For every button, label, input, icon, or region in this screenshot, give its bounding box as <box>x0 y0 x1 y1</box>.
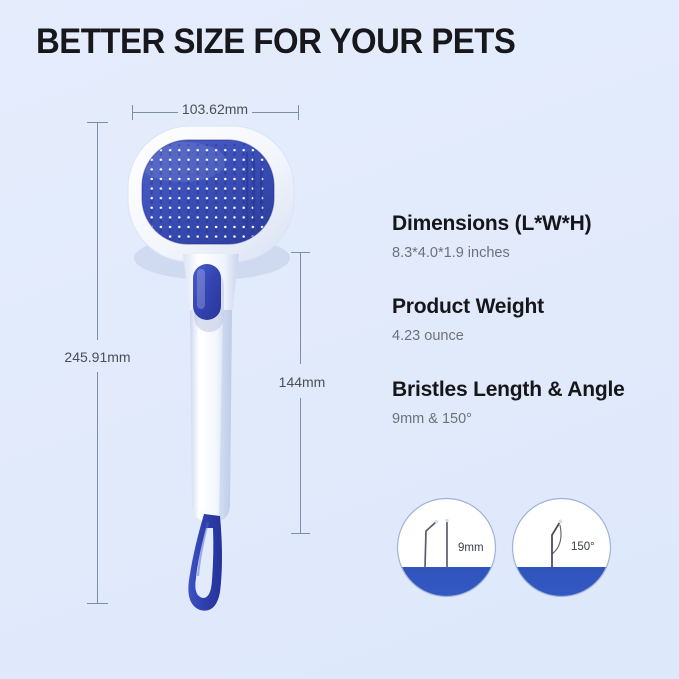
bristle-angle-badge-label: 150° <box>571 541 595 553</box>
spec-weight-value: 4.23 ounce <box>392 328 667 344</box>
page-title: BETTER SIZE FOR YOUR PETS <box>36 22 515 62</box>
width-line-right <box>252 112 298 113</box>
bristle-diagram-badges: 9mm <box>396 497 612 598</box>
spec-weight-title: Product Weight <box>392 295 667 319</box>
spec-bristles: Bristles Length & Angle 9mm & 150° <box>392 378 667 427</box>
spec-list: Dimensions (L*W*H) 8.3*4.0*1.9 inches Pr… <box>392 212 667 461</box>
total-length-line-bottom <box>97 372 98 603</box>
product-image-brush <box>120 118 320 608</box>
total-length-line-top <box>97 122 98 340</box>
width-dimension-label: 103.62mm <box>178 101 252 117</box>
spec-dimensions-title: Dimensions (L*W*H) <box>392 212 667 236</box>
total-length-tick-bottom <box>87 603 108 604</box>
bristle-length-badge-label: 9mm <box>458 542 484 554</box>
bristle-angle-badge: 150° <box>511 497 612 598</box>
infographic-page: BETTER SIZE FOR YOUR PETS 103.62mm 245.9… <box>0 0 679 679</box>
width-line-left <box>132 112 178 113</box>
spec-dimensions: Dimensions (L*W*H) 8.3*4.0*1.9 inches <box>392 212 667 261</box>
spec-bristles-value: 9mm & 150° <box>392 411 667 427</box>
spec-weight: Product Weight 4.23 ounce <box>392 295 667 344</box>
bristle-length-badge: 9mm <box>396 497 497 598</box>
spec-dimensions-value: 8.3*4.0*1.9 inches <box>392 245 667 261</box>
spec-bristles-title: Bristles Length & Angle <box>392 378 667 402</box>
